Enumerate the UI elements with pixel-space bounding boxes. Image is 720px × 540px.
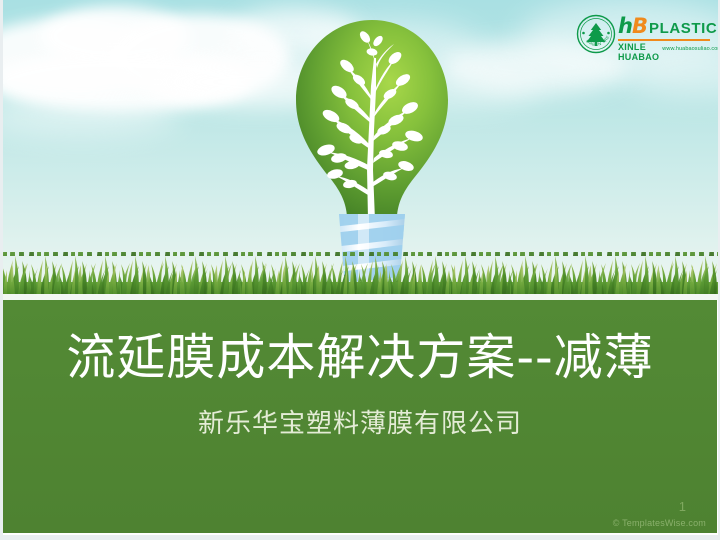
- logo-wordmark: hB PLASTIC: [618, 16, 720, 38]
- logo-monogram-b: B: [632, 14, 647, 38]
- grass-strip: [0, 252, 720, 296]
- logo-monogram-h: h: [618, 14, 632, 38]
- presentation-slide: 流延膜成本解决方案--减薄 新乐华宝塑料薄膜有限公司 GREEN TREE hB: [0, 0, 720, 540]
- logo-monogram: hB: [618, 16, 647, 37]
- logo-plastic-word: PLASTIC: [649, 18, 717, 39]
- title-block: 流延膜成本解决方案--减薄 新乐华宝塑料薄膜有限公司: [0, 327, 720, 441]
- logo-underline-rule: [618, 39, 710, 41]
- logo-company-name: XINLE HUABAO: [618, 42, 659, 62]
- hb-plastic-logo[interactable]: GREEN TREE hB PLASTIC XINLE HUABAO www.h…: [576, 14, 712, 60]
- cloud-shape: [0, 96, 180, 136]
- page-subtitle: 新乐华宝塑料薄膜有限公司: [0, 407, 720, 441]
- logo-subline: XINLE HUABAO www.huabaosuliao.com: [618, 42, 720, 62]
- page-number: 1: [679, 499, 686, 514]
- logo-website-url: www.huabaosuliao.com: [662, 44, 720, 54]
- logo-text-column: hB PLASTIC XINLE HUABAO www.huabaosuliao…: [618, 14, 720, 62]
- green-tree-badge-icon: GREEN TREE: [576, 14, 616, 54]
- template-watermark: © TemplatesWise.com: [613, 518, 706, 528]
- page-title: 流延膜成本解决方案--减薄: [0, 327, 720, 389]
